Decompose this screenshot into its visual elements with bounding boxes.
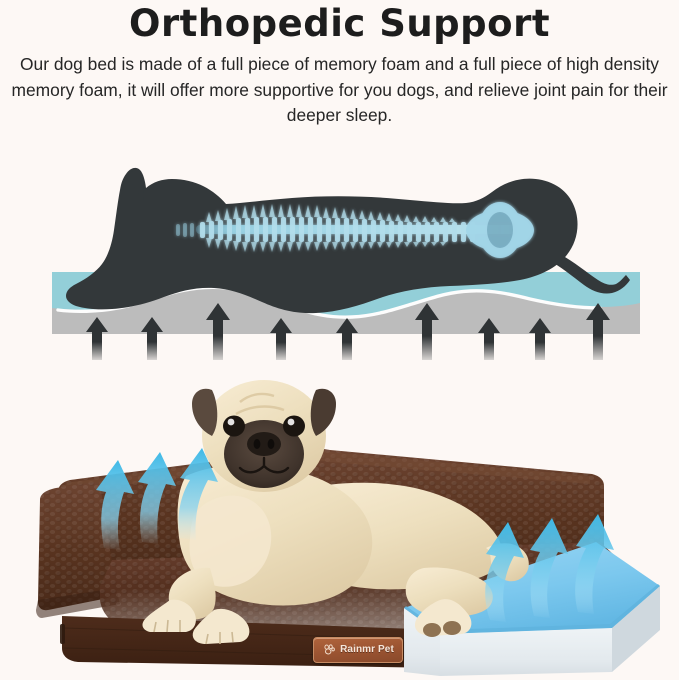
page-description: Our dog bed is made of a full piece of m… (0, 52, 679, 129)
page-title: Orthopedic Support (0, 0, 679, 46)
product-photo-pug-on-bed (0, 372, 679, 680)
paw-icon (322, 643, 336, 657)
brand-label-text: Rainmr Pet (340, 645, 394, 655)
product-photo-svg (0, 372, 679, 680)
spine-support-diagram (0, 160, 679, 365)
header-block: Orthopedic Support Our dog bed is made o… (0, 0, 679, 129)
brand-label-patch: Rainmr Pet (313, 637, 403, 663)
product-feature-graphic: Orthopedic Support Our dog bed is made o… (0, 0, 679, 680)
zipper-pull (60, 624, 65, 644)
spine-diagram-svg (0, 160, 679, 365)
